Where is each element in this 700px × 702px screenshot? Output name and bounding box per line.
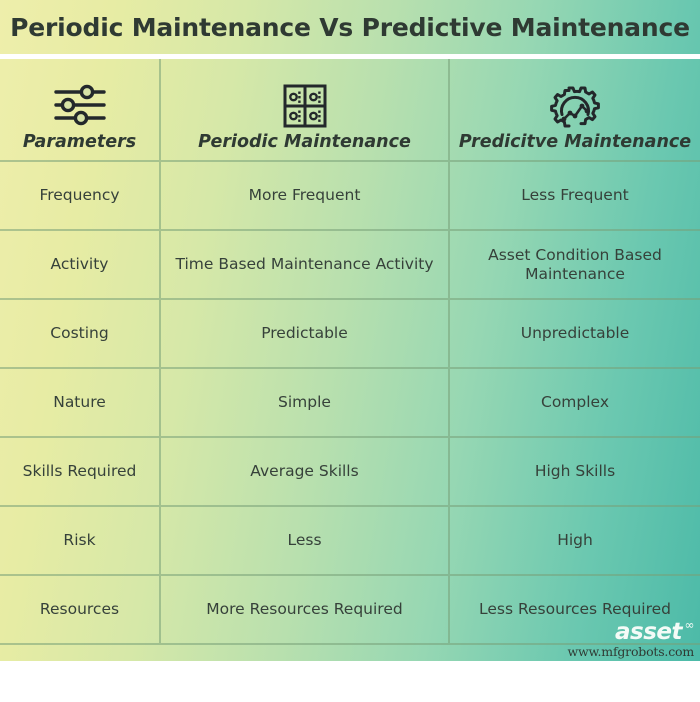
- brand-block: asset∞ www.mfgrobots.com: [568, 621, 695, 659]
- asset-logo-text: asset: [615, 619, 682, 645]
- cell-periodic: Time Based Maintenance Activity: [161, 231, 450, 298]
- infographic-comparison-table: Periodic Maintenance Vs Predictive Maint…: [0, 0, 700, 661]
- cell-periodic: Simple: [161, 369, 450, 436]
- cell-parameter: Activity: [0, 231, 161, 298]
- asset-logo: asset∞: [615, 621, 694, 644]
- cell-parameter: Skills Required: [0, 438, 161, 505]
- cell-predictive: Complex: [450, 369, 700, 436]
- cell-parameter: Costing: [0, 300, 161, 367]
- title-band: Periodic Maintenance Vs Predictive Maint…: [0, 0, 700, 54]
- cell-predictive: Unpredictable: [450, 300, 700, 367]
- page-title: Periodic Maintenance Vs Predictive Maint…: [10, 13, 690, 42]
- cell-predictive: High: [450, 507, 700, 574]
- infinity-icon: ∞: [685, 619, 695, 631]
- cell-parameter: Risk: [0, 507, 161, 574]
- cell-parameter: Frequency: [0, 162, 161, 229]
- table-row: Nature Simple Complex: [0, 369, 700, 438]
- column-header-periodic: Periodic Maintenance: [161, 59, 450, 160]
- footer: asset∞ www.mfgrobots.com: [0, 604, 700, 661]
- table-row: Skills Required Average Skills High Skil…: [0, 438, 700, 507]
- table-row: Costing Predictable Unpredictable: [0, 300, 700, 369]
- table-header-row: Parameters: [0, 59, 700, 162]
- cell-predictive: High Skills: [450, 438, 700, 505]
- table-row: Risk Less High: [0, 507, 700, 576]
- column-header-periodic-label: Periodic Maintenance: [198, 132, 411, 153]
- cell-predictive: Less Frequent: [450, 162, 700, 229]
- column-header-predictive: Predicitve Maintenance: [450, 59, 700, 160]
- column-header-parameters: Parameters: [0, 59, 161, 160]
- cell-periodic: Average Skills: [161, 438, 450, 505]
- table-row: Activity Time Based Maintenance Activity…: [0, 231, 700, 300]
- site-url: www.mfgrobots.com: [568, 646, 695, 659]
- cell-periodic: Less: [161, 507, 450, 574]
- column-header-predictive-label: Predicitve Maintenance: [459, 132, 691, 153]
- column-header-parameters-label: Parameters: [23, 132, 136, 153]
- calendar-schedule-grid-icon: [282, 84, 328, 128]
- table-row: Frequency More Frequent Less Frequent: [0, 162, 700, 231]
- cell-predictive: Asset Condition Based Maintenance: [450, 231, 700, 298]
- cell-periodic: Predictable: [161, 300, 450, 367]
- cell-periodic: More Frequent: [161, 162, 450, 229]
- gear-analytics-icon: [549, 84, 601, 128]
- sliders-settings-icon: [51, 84, 109, 128]
- cell-parameter: Nature: [0, 369, 161, 436]
